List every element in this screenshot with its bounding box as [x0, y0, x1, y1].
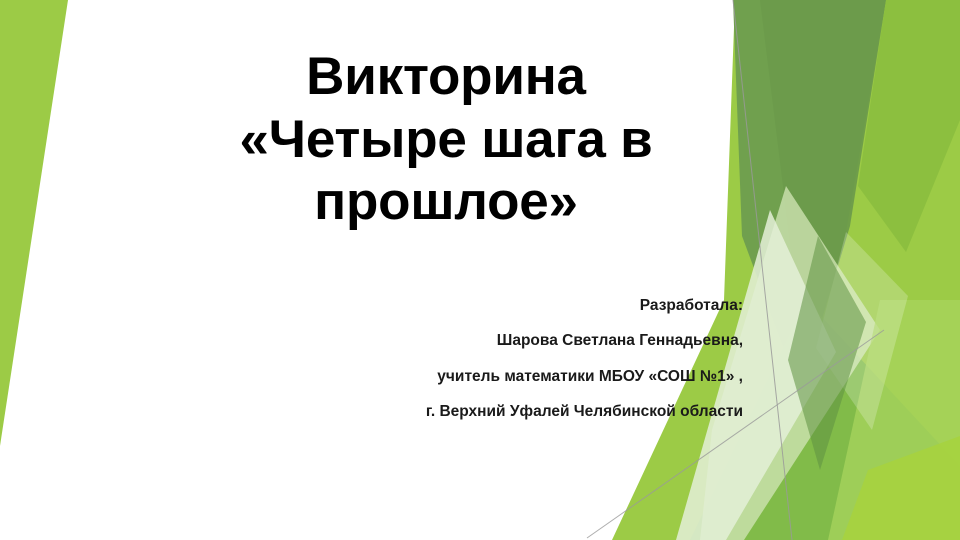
presentation-slide: Викторина «Четыре шага в прошлое» Разраб… [0, 0, 960, 540]
facet-deep-accent [788, 236, 866, 470]
facet-bottom-corner [842, 436, 960, 540]
slide-subtitle: Разработала: Шарова Светлана Геннадьевна… [300, 288, 743, 429]
subtitle-line-position: учитель математики МБОУ «СОШ №1» , [300, 359, 743, 394]
facet-yellow-green-band [858, 0, 960, 252]
left-green-wedge [0, 0, 68, 446]
title-line-1: Викторина [108, 46, 784, 109]
subtitle-line-author-name: Шарова Светлана Геннадьевна, [300, 323, 743, 358]
facet-highlight-sliver [816, 232, 908, 430]
subtitle-line-author-label: Разработала: [300, 288, 743, 323]
slide-title: Викторина «Четыре шага в прошлое» [108, 46, 784, 234]
facet-light-slab [828, 300, 960, 540]
title-line-3: прошлое» [108, 171, 784, 234]
title-line-2: «Четыре шага в [108, 109, 784, 172]
subtitle-line-location: г. Верхний Уфалей Челябинской области [300, 394, 743, 429]
